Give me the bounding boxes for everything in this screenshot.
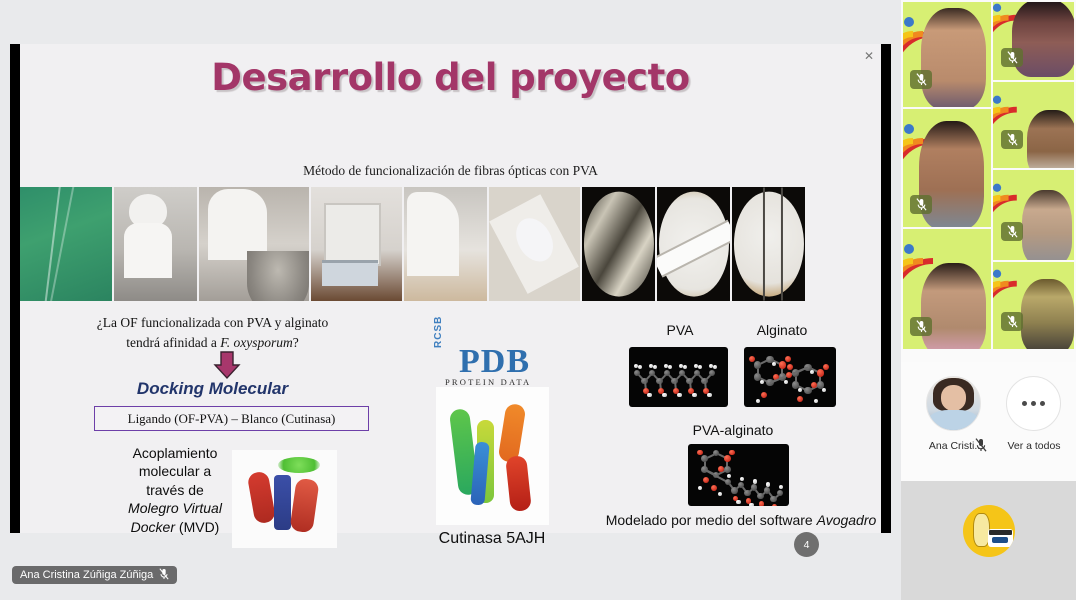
mic-muted-icon <box>159 568 169 583</box>
participant-tile-6[interactable] <box>993 170 1074 260</box>
presentation-slide: ✕ Desarrollo del proyecto Método de func… <box>20 44 881 533</box>
mvd-protein-image <box>232 450 337 548</box>
molecule-image-pva <box>629 347 728 407</box>
view-all-label: Ver a todos <box>996 440 1072 452</box>
mic-muted-icon <box>1001 130 1023 149</box>
mic-muted-icon <box>910 317 932 336</box>
pdb-logo: RCSB PDB PROTEIN DATA BANK <box>433 347 553 383</box>
self-participant-label: Ana Cristi... <box>911 440 1001 452</box>
photo-strip <box>20 187 881 301</box>
page-title: Desarrollo del proyecto <box>20 56 881 99</box>
glass-slide-photo <box>489 187 580 301</box>
somos-abejas-ug-logo <box>963 505 1015 557</box>
lab-technician-photo <box>114 187 197 301</box>
acoplamiento-text: Acoplamiento molecular a través de Moleg… <box>110 444 240 536</box>
participant-rail: Ana Cristi... Ver a todos <box>901 0 1076 600</box>
more-dots-icon <box>1031 401 1036 406</box>
participant-tiles <box>901 0 1076 360</box>
mic-muted-icon <box>910 195 932 214</box>
mic-muted-icon <box>1001 312 1023 331</box>
analytical-balance-photo <box>311 187 402 301</box>
microscope-fiber-photo-3 <box>732 187 805 301</box>
mic-muted-icon <box>1001 48 1023 67</box>
molecule-image-pva-alginato <box>688 444 789 506</box>
molecule-image-alginato <box>744 347 836 407</box>
mic-muted-icon <box>910 70 932 89</box>
participant-tile-5[interactable] <box>993 82 1074 168</box>
self-and-view-all-row: Ana Cristi... Ver a todos <box>901 362 1076 481</box>
cutinase-structure-image <box>436 387 549 525</box>
presenter-name-label: Ana Cristina Zúñiga Zúñiga <box>20 569 153 581</box>
modelado-caption: Modelado por medio del software Avogadro <box>586 512 896 528</box>
presenter-name-tag: Ana Cristina Zúñiga Zúñiga <box>12 566 177 584</box>
close-icon[interactable]: ✕ <box>861 48 877 64</box>
microscope-fiber-photo-1 <box>582 187 655 301</box>
more-dots-icon <box>1040 401 1045 406</box>
ligando-box-label: Ligando (OF-PVA) – Blanco (Cutinasa) <box>128 411 336 427</box>
research-question: ¿La OF funcionalizada con PVA y alginato… <box>60 313 365 352</box>
molecule-label-pva: PVA <box>636 322 724 338</box>
cutinasa-caption: Cutinasa 5AJH <box>416 530 568 548</box>
participant-tile-1[interactable] <box>903 2 991 107</box>
lab-worker-photo <box>404 187 487 301</box>
mic-muted-icon <box>1001 222 1023 241</box>
slide-number-badge: 4 <box>794 532 819 557</box>
participant-tile-3[interactable] <box>903 229 991 349</box>
slide-subtitle: Método de funcionalización de fibras ópt… <box>20 163 881 179</box>
green-fiber-photo <box>20 187 112 301</box>
mixing-bowl-photo <box>199 187 309 301</box>
shared-screen-region: ✕ Desarrollo del proyecto Método de func… <box>0 0 901 600</box>
more-dots-icon <box>1022 401 1027 406</box>
meeting-window: ✕ Desarrollo del proyecto Método de func… <box>0 0 1076 600</box>
participant-tile-4[interactable] <box>993 2 1074 80</box>
pdb-wordmark: PDB <box>459 343 530 381</box>
avatar[interactable] <box>926 376 981 431</box>
mic-muted-icon <box>975 438 987 452</box>
molecule-label-pva-alginato: PVA-alginato <box>658 422 808 438</box>
arrow-down-icon <box>212 350 242 380</box>
participant-tile-2[interactable] <box>903 109 991 227</box>
bee-avatar-panel <box>901 481 1076 600</box>
docking-heading: Docking Molecular <box>60 379 365 399</box>
view-all-button[interactable] <box>1006 376 1061 431</box>
molecule-label-alginato: Alginato <box>728 322 836 338</box>
pdb-rcsb-text: RCSB <box>433 316 444 348</box>
ligando-box: Ligando (OF-PVA) – Blanco (Cutinasa) <box>94 406 369 431</box>
microscope-fiber-photo-2 <box>657 187 730 301</box>
participant-tile-7[interactable] <box>993 262 1074 349</box>
